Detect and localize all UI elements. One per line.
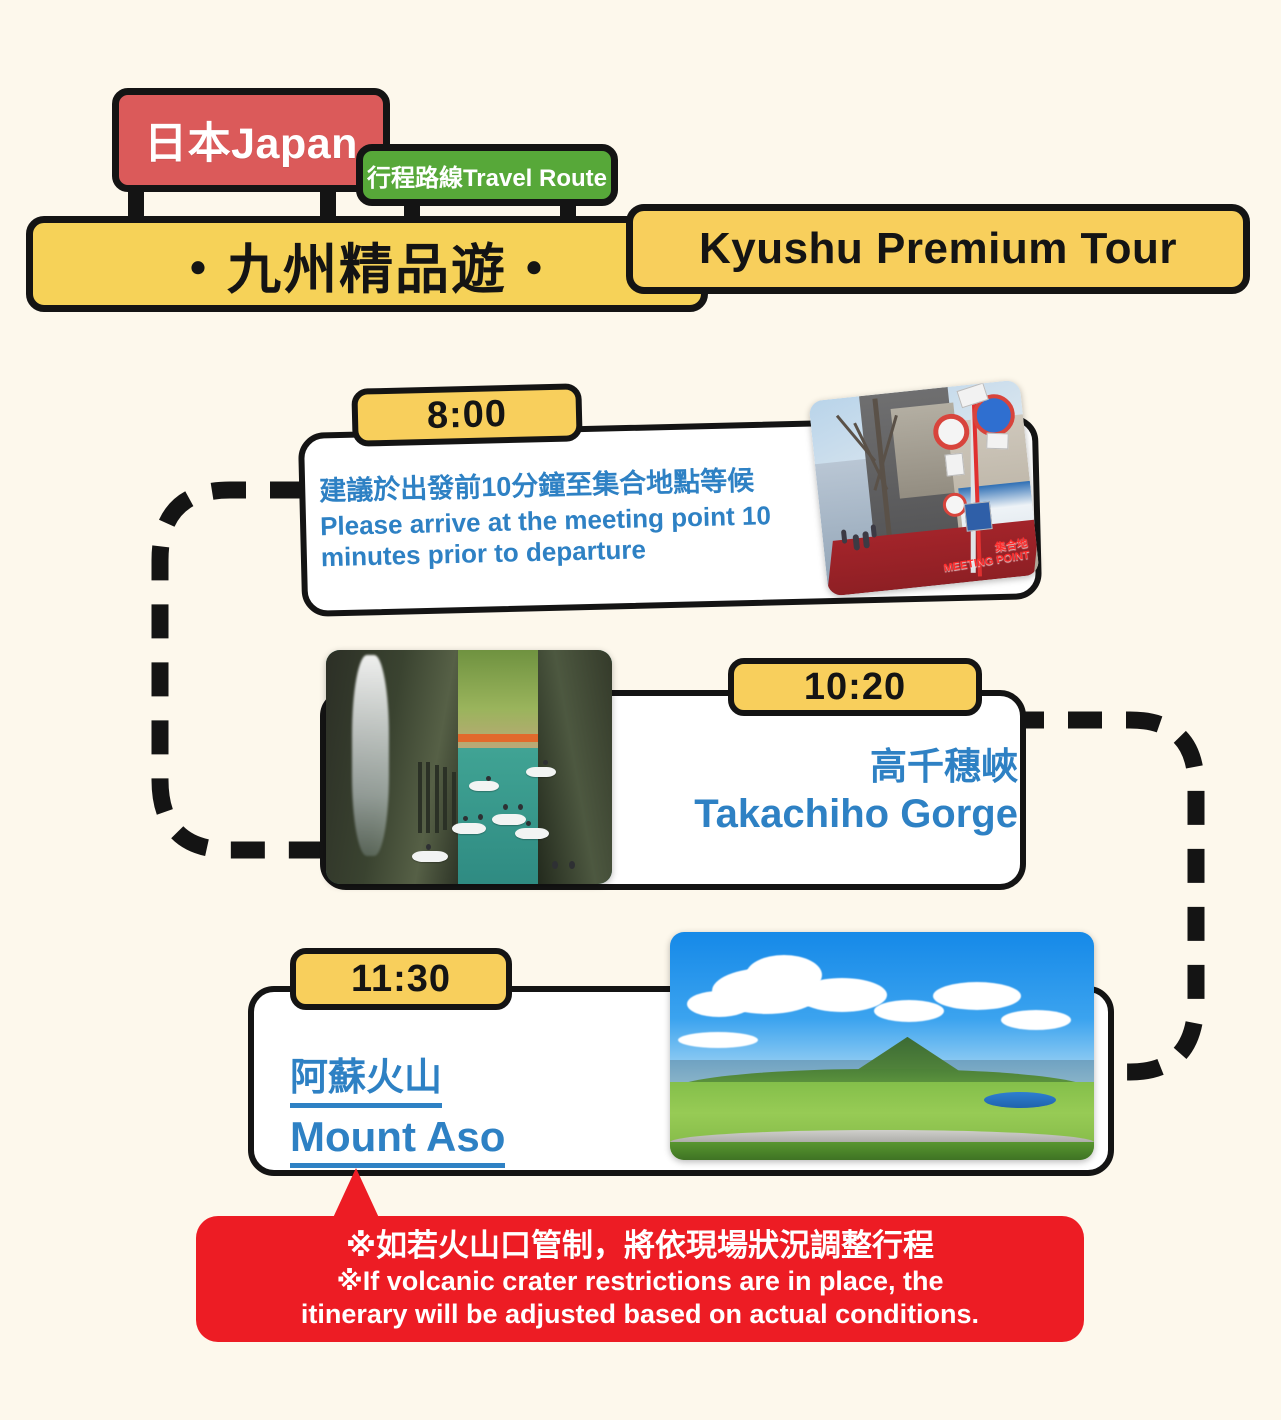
- time-badge-1: 8:00: [351, 383, 582, 447]
- meeting-point-photo: 集合地 MEETING POINT: [808, 379, 1039, 596]
- warning-note: ※如若火山口管制，將依現場狀況調整行程 ※If volcanic crater …: [196, 1216, 1084, 1342]
- card-2-text-zh: 高千穗峽: [636, 745, 1018, 789]
- card-3-text-en: Mount Aso: [290, 1112, 505, 1169]
- takachiho-gorge-photo: [326, 650, 612, 884]
- card-2-text-en: Takachiho Gorge: [636, 791, 1018, 838]
- time-label-1: 8:00: [426, 393, 507, 438]
- time-label-2: 10:20: [804, 666, 906, 709]
- title-banner-en: Kyushu Premium Tour: [626, 204, 1250, 294]
- warning-note-en-2: itinerary will be adjusted based on actu…: [301, 1298, 979, 1331]
- page-title-en: Kyushu Premium Tour: [699, 224, 1177, 274]
- warning-note-en-1: ※If volcanic crater restrictions are in …: [337, 1265, 944, 1298]
- card-1-text-en: Please arrive at the meeting point 10 mi…: [320, 499, 831, 573]
- note-pointer-arrow: [332, 1168, 380, 1220]
- mount-aso-photo: [670, 932, 1094, 1160]
- time-badge-3: 11:30: [290, 948, 512, 1010]
- card-1-text: 建議於出發前10分鐘至集合地點等候 Please arrive at the m…: [319, 464, 831, 573]
- card-2-text: 高千穗峽 Takachiho Gorge: [636, 745, 1018, 838]
- title-banner-zh: ・九州精品遊・: [26, 216, 708, 312]
- country-sign: 日本Japan: [112, 88, 390, 192]
- route-tag-label: 行程路線Travel Route: [367, 158, 607, 193]
- time-badge-2: 10:20: [728, 658, 982, 716]
- card-3-text: 阿蘇火山 Mount Aso: [290, 1056, 710, 1168]
- card-3-text-zh: 阿蘇火山: [290, 1056, 442, 1108]
- warning-note-zh: ※如若火山口管制，將依現場狀況調整行程: [346, 1227, 934, 1265]
- poster-canvas: 日本Japan 行程路線Travel Route ・九州精品遊・ Kyushu …: [0, 0, 1281, 1420]
- time-label-3: 11:30: [351, 958, 451, 1001]
- page-title-zh: ・九州精品遊・: [171, 225, 563, 304]
- route-tag-sign: 行程路線Travel Route: [356, 144, 618, 206]
- country-label: 日本Japan: [144, 109, 358, 171]
